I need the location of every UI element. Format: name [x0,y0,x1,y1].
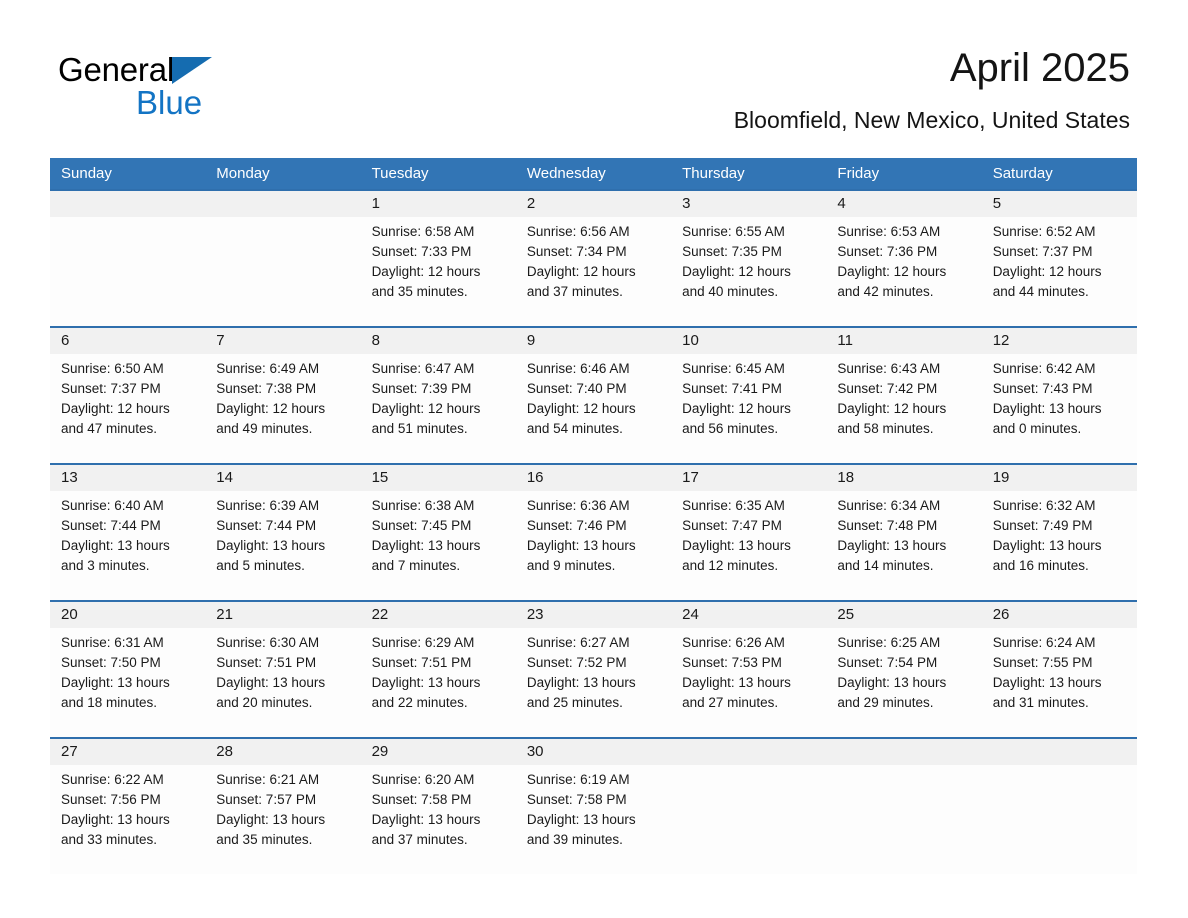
sunset-text: Sunset: 7:57 PM [216,790,350,810]
sunrise-text: Sunrise: 6:50 AM [61,359,195,379]
day-number[interactable]: 25 [826,602,981,628]
day-detail-row: Sunrise: 6:50 AM Sunset: 7:37 PM Dayligh… [50,354,1137,463]
day-number-row: 20 21 22 23 24 25 26 [50,602,1137,628]
day-cell[interactable]: Sunrise: 6:40 AM Sunset: 7:44 PM Dayligh… [50,491,205,600]
sunset-text: Sunset: 7:58 PM [527,790,661,810]
calendar-week-row: 13 14 15 16 17 18 19 Sunrise: 6:40 AM Su… [50,463,1137,600]
day-number[interactable]: 10 [671,328,826,354]
daylight-text: Daylight: 13 hours and 3 minutes. [61,536,195,576]
sunset-text: Sunset: 7:41 PM [682,379,816,399]
daylight-text: Daylight: 12 hours and 51 minutes. [372,399,506,439]
sunrise-text: Sunrise: 6:24 AM [993,633,1127,653]
day-number[interactable] [982,739,1137,765]
sunrise-text: Sunrise: 6:42 AM [993,359,1127,379]
daylight-text: Daylight: 13 hours and 20 minutes. [216,673,350,713]
sunrise-text: Sunrise: 6:46 AM [527,359,661,379]
daylight-text: Daylight: 13 hours and 0 minutes. [993,399,1127,439]
day-cell[interactable]: Sunrise: 6:46 AM Sunset: 7:40 PM Dayligh… [516,354,671,463]
day-number[interactable]: 11 [826,328,981,354]
day-cell[interactable]: Sunrise: 6:20 AM Sunset: 7:58 PM Dayligh… [361,765,516,874]
day-number[interactable] [671,739,826,765]
daylight-text: Daylight: 13 hours and 16 minutes. [993,536,1127,576]
sunset-text: Sunset: 7:36 PM [837,242,971,262]
day-cell[interactable]: Sunrise: 6:22 AM Sunset: 7:56 PM Dayligh… [50,765,205,874]
day-number[interactable]: 8 [361,328,516,354]
sunrise-text: Sunrise: 6:55 AM [682,222,816,242]
sunrise-text: Sunrise: 6:49 AM [216,359,350,379]
sunset-text: Sunset: 7:38 PM [216,379,350,399]
day-number[interactable] [826,739,981,765]
day-cell[interactable]: Sunrise: 6:50 AM Sunset: 7:37 PM Dayligh… [50,354,205,463]
day-detail-row: Sunrise: 6:31 AM Sunset: 7:50 PM Dayligh… [50,628,1137,737]
sunset-text: Sunset: 7:56 PM [61,790,195,810]
day-detail-row: Sunrise: 6:58 AM Sunset: 7:33 PM Dayligh… [50,217,1137,326]
sunrise-text: Sunrise: 6:40 AM [61,496,195,516]
sunset-text: Sunset: 7:45 PM [372,516,506,536]
daylight-text: Daylight: 12 hours and 56 minutes. [682,399,816,439]
daylight-text: Daylight: 13 hours and 31 minutes. [993,673,1127,713]
weekday-header-thursday: Thursday [671,158,826,189]
daylight-text: Daylight: 13 hours and 39 minutes. [527,810,661,850]
sunrise-text: Sunrise: 6:31 AM [61,633,195,653]
day-number[interactable]: 21 [205,602,360,628]
day-number[interactable] [50,191,205,217]
day-number[interactable]: 4 [826,191,981,217]
daylight-text: Daylight: 13 hours and 25 minutes. [527,673,661,713]
day-cell[interactable]: Sunrise: 6:19 AM Sunset: 7:58 PM Dayligh… [516,765,671,874]
daylight-text: Daylight: 12 hours and 37 minutes. [527,262,661,302]
sunset-text: Sunset: 7:55 PM [993,653,1127,673]
day-cell[interactable]: Sunrise: 6:27 AM Sunset: 7:52 PM Dayligh… [516,628,671,737]
daylight-text: Daylight: 13 hours and 18 minutes. [61,673,195,713]
sunset-text: Sunset: 7:42 PM [837,379,971,399]
daylight-text: Daylight: 13 hours and 27 minutes. [682,673,816,713]
daylight-text: Daylight: 13 hours and 14 minutes. [837,536,971,576]
sunrise-text: Sunrise: 6:53 AM [837,222,971,242]
day-cell[interactable]: Sunrise: 6:58 AM Sunset: 7:33 PM Dayligh… [361,217,516,326]
calendar-table: Sunday Monday Tuesday Wednesday Thursday… [50,158,1137,874]
sunset-text: Sunset: 7:54 PM [837,653,971,673]
weekday-header-wednesday: Wednesday [516,158,671,189]
day-cell[interactable]: Sunrise: 6:29 AM Sunset: 7:51 PM Dayligh… [361,628,516,737]
day-cell[interactable]: Sunrise: 6:56 AM Sunset: 7:34 PM Dayligh… [516,217,671,326]
sunset-text: Sunset: 7:49 PM [993,516,1127,536]
sunset-text: Sunset: 7:58 PM [372,790,506,810]
sunrise-text: Sunrise: 6:56 AM [527,222,661,242]
sunset-text: Sunset: 7:37 PM [61,379,195,399]
day-number[interactable]: 29 [361,739,516,765]
day-number-row: 27 28 29 30 [50,739,1137,765]
day-number[interactable]: 1 [361,191,516,217]
day-number[interactable]: 16 [516,465,671,491]
page-subtitle-location: Bloomfield, New Mexico, United States [734,106,1130,134]
day-number[interactable]: 14 [205,465,360,491]
day-cell[interactable]: Sunrise: 6:31 AM Sunset: 7:50 PM Dayligh… [50,628,205,737]
day-cell[interactable]: Sunrise: 6:42 AM Sunset: 7:43 PM Dayligh… [982,354,1137,463]
daylight-text: Daylight: 13 hours and 22 minutes. [372,673,506,713]
day-cell[interactable] [982,765,1137,874]
day-number[interactable]: 12 [982,328,1137,354]
day-cell[interactable]: Sunrise: 6:43 AM Sunset: 7:42 PM Dayligh… [826,354,981,463]
day-number[interactable]: 5 [982,191,1137,217]
sunrise-text: Sunrise: 6:47 AM [372,359,506,379]
sunset-text: Sunset: 7:35 PM [682,242,816,262]
sunrise-text: Sunrise: 6:38 AM [372,496,506,516]
sunrise-text: Sunrise: 6:26 AM [682,633,816,653]
day-cell[interactable] [671,765,826,874]
day-detail-row: Sunrise: 6:22 AM Sunset: 7:56 PM Dayligh… [50,765,1137,874]
sunrise-text: Sunrise: 6:43 AM [837,359,971,379]
sunrise-text: Sunrise: 6:34 AM [837,496,971,516]
sunset-text: Sunset: 7:43 PM [993,379,1127,399]
day-cell[interactable]: Sunrise: 6:35 AM Sunset: 7:47 PM Dayligh… [671,491,826,600]
sunset-text: Sunset: 7:53 PM [682,653,816,673]
calendar-week-row: 27 28 29 30 Sunrise: 6:22 AM Sunset: 7:5… [50,737,1137,874]
weekday-header-friday: Friday [826,158,981,189]
weekday-header-saturday: Saturday [982,158,1137,189]
general-blue-logo: General Blue [58,52,318,128]
day-cell[interactable]: Sunrise: 6:47 AM Sunset: 7:39 PM Dayligh… [361,354,516,463]
daylight-text: Daylight: 13 hours and 9 minutes. [527,536,661,576]
sunrise-text: Sunrise: 6:45 AM [682,359,816,379]
daylight-text: Daylight: 12 hours and 44 minutes. [993,262,1127,302]
daylight-text: Daylight: 12 hours and 47 minutes. [61,399,195,439]
day-cell[interactable]: Sunrise: 6:25 AM Sunset: 7:54 PM Dayligh… [826,628,981,737]
sunset-text: Sunset: 7:39 PM [372,379,506,399]
sunset-text: Sunset: 7:51 PM [216,653,350,673]
day-cell[interactable]: Sunrise: 6:24 AM Sunset: 7:55 PM Dayligh… [982,628,1137,737]
calendar-week-row: 20 21 22 23 24 25 26 Sunrise: 6:31 AM Su… [50,600,1137,737]
day-cell[interactable]: Sunrise: 6:26 AM Sunset: 7:53 PM Dayligh… [671,628,826,737]
day-number[interactable]: 20 [50,602,205,628]
day-number-row: 1 2 3 4 5 [50,191,1137,217]
sunset-text: Sunset: 7:51 PM [372,653,506,673]
day-number[interactable]: 18 [826,465,981,491]
day-number[interactable]: 17 [671,465,826,491]
weekday-header-tuesday: Tuesday [361,158,516,189]
day-cell[interactable]: Sunrise: 6:21 AM Sunset: 7:57 PM Dayligh… [205,765,360,874]
daylight-text: Daylight: 12 hours and 54 minutes. [527,399,661,439]
sunrise-text: Sunrise: 6:19 AM [527,770,661,790]
day-cell[interactable]: Sunrise: 6:49 AM Sunset: 7:38 PM Dayligh… [205,354,360,463]
sunrise-text: Sunrise: 6:52 AM [993,222,1127,242]
day-number[interactable]: 13 [50,465,205,491]
day-cell[interactable]: Sunrise: 6:55 AM Sunset: 7:35 PM Dayligh… [671,217,826,326]
sunset-text: Sunset: 7:47 PM [682,516,816,536]
day-number[interactable]: 26 [982,602,1137,628]
day-number[interactable]: 7 [205,328,360,354]
sunset-text: Sunset: 7:33 PM [372,242,506,262]
sunrise-text: Sunrise: 6:32 AM [993,496,1127,516]
sunrise-text: Sunrise: 6:36 AM [527,496,661,516]
sunrise-text: Sunrise: 6:58 AM [372,222,506,242]
day-cell[interactable]: Sunrise: 6:36 AM Sunset: 7:46 PM Dayligh… [516,491,671,600]
daylight-text: Daylight: 12 hours and 35 minutes. [372,262,506,302]
day-detail-row: Sunrise: 6:40 AM Sunset: 7:44 PM Dayligh… [50,491,1137,600]
day-cell[interactable] [50,217,205,326]
day-cell[interactable]: Sunrise: 6:53 AM Sunset: 7:36 PM Dayligh… [826,217,981,326]
day-number[interactable]: 2 [516,191,671,217]
sunrise-text: Sunrise: 6:30 AM [216,633,350,653]
day-cell[interactable]: Sunrise: 6:34 AM Sunset: 7:48 PM Dayligh… [826,491,981,600]
sunrise-text: Sunrise: 6:35 AM [682,496,816,516]
sunset-text: Sunset: 7:37 PM [993,242,1127,262]
calendar-week-row: 1 2 3 4 5 Sunrise: 6:58 AM [50,189,1137,326]
logo-triangle-icon [172,57,212,84]
weekday-header-sunday: Sunday [50,158,205,189]
sunrise-text: Sunrise: 6:27 AM [527,633,661,653]
sunset-text: Sunset: 7:50 PM [61,653,195,673]
day-cell[interactable]: Sunrise: 6:39 AM Sunset: 7:44 PM Dayligh… [205,491,360,600]
daylight-text: Daylight: 13 hours and 7 minutes. [372,536,506,576]
day-cell[interactable]: Sunrise: 6:32 AM Sunset: 7:49 PM Dayligh… [982,491,1137,600]
day-cell[interactable]: Sunrise: 6:52 AM Sunset: 7:37 PM Dayligh… [982,217,1137,326]
sunset-text: Sunset: 7:44 PM [216,516,350,536]
daylight-text: Daylight: 12 hours and 58 minutes. [837,399,971,439]
day-number-row: 6 7 8 9 10 11 12 [50,328,1137,354]
sunset-text: Sunset: 7:52 PM [527,653,661,673]
daylight-text: Daylight: 13 hours and 37 minutes. [372,810,506,850]
daylight-text: Daylight: 12 hours and 40 minutes. [682,262,816,302]
day-number[interactable]: 24 [671,602,826,628]
sunset-text: Sunset: 7:34 PM [527,242,661,262]
day-cell[interactable] [205,217,360,326]
daylight-text: Daylight: 13 hours and 33 minutes. [61,810,195,850]
day-number[interactable]: 27 [50,739,205,765]
calendar-page: General Blue April 2025 Bloomfield, New … [0,0,1188,918]
sunrise-text: Sunrise: 6:22 AM [61,770,195,790]
day-cell[interactable]: Sunrise: 6:38 AM Sunset: 7:45 PM Dayligh… [361,491,516,600]
sunset-text: Sunset: 7:44 PM [61,516,195,536]
day-number[interactable]: 3 [671,191,826,217]
logo-text-blue: Blue [136,85,202,121]
daylight-text: Daylight: 13 hours and 29 minutes. [837,673,971,713]
day-number[interactable] [205,191,360,217]
day-number[interactable]: 9 [516,328,671,354]
sunrise-text: Sunrise: 6:39 AM [216,496,350,516]
day-cell[interactable]: Sunrise: 6:45 AM Sunset: 7:41 PM Dayligh… [671,354,826,463]
day-cell[interactable] [826,765,981,874]
sunrise-text: Sunrise: 6:21 AM [216,770,350,790]
daylight-text: Daylight: 13 hours and 12 minutes. [682,536,816,576]
day-number[interactable]: 28 [205,739,360,765]
day-number[interactable]: 22 [361,602,516,628]
sunset-text: Sunset: 7:48 PM [837,516,971,536]
calendar-week-row: 6 7 8 9 10 11 12 Sunrise: 6:50 AM Sunset… [50,326,1137,463]
daylight-text: Daylight: 12 hours and 49 minutes. [216,399,350,439]
day-number[interactable]: 15 [361,465,516,491]
daylight-text: Daylight: 12 hours and 42 minutes. [837,262,971,302]
weekday-header-monday: Monday [205,158,360,189]
day-number[interactable]: 6 [50,328,205,354]
logo-text-general: General [58,52,174,88]
page-header: General Blue April 2025 Bloomfield, New … [0,0,1188,152]
sunrise-text: Sunrise: 6:29 AM [372,633,506,653]
sunrise-text: Sunrise: 6:20 AM [372,770,506,790]
sunrise-text: Sunrise: 6:25 AM [837,633,971,653]
day-number[interactable]: 30 [516,739,671,765]
page-title: April 2025 [950,45,1130,91]
day-cell[interactable]: Sunrise: 6:30 AM Sunset: 7:51 PM Dayligh… [205,628,360,737]
weekday-header-row: Sunday Monday Tuesday Wednesday Thursday… [50,158,1137,189]
daylight-text: Daylight: 13 hours and 35 minutes. [216,810,350,850]
sunset-text: Sunset: 7:40 PM [527,379,661,399]
day-number[interactable]: 23 [516,602,671,628]
sunset-text: Sunset: 7:46 PM [527,516,661,536]
daylight-text: Daylight: 13 hours and 5 minutes. [216,536,350,576]
day-number-row: 13 14 15 16 17 18 19 [50,465,1137,491]
day-number[interactable]: 19 [982,465,1137,491]
